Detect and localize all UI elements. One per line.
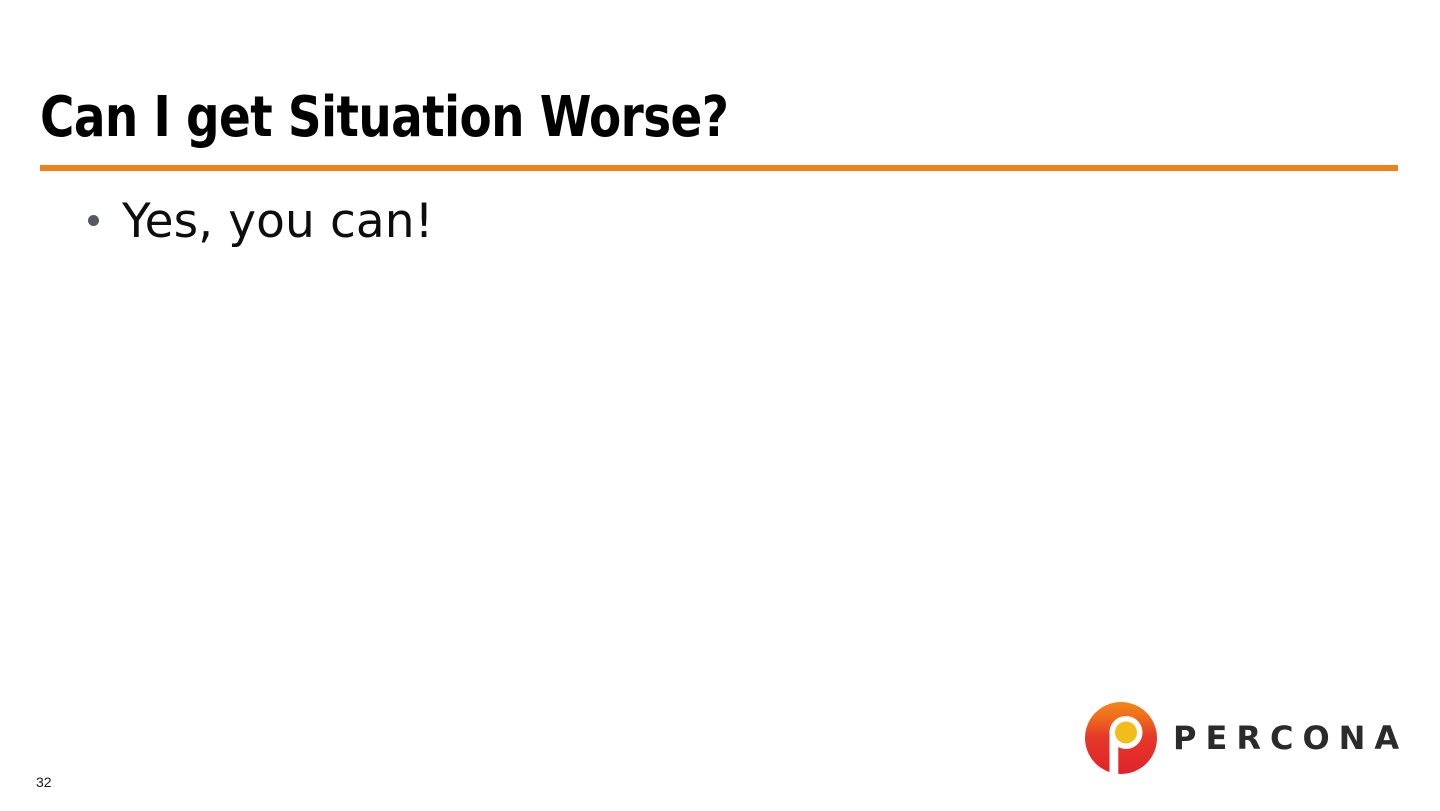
page-number: 32 xyxy=(36,774,52,790)
percona-p-circle-icon xyxy=(1085,702,1157,774)
percona-wordmark: PERCONA xyxy=(1173,721,1408,755)
page-title: Can I get Situation Worse? xyxy=(40,86,1277,150)
list-item: Yes, you can! xyxy=(88,192,1338,252)
bullet-text: Yes, you can! xyxy=(122,192,1338,252)
percona-logo: PERCONA xyxy=(1085,702,1397,774)
bullet-dot-icon xyxy=(88,215,99,226)
title-divider-rule xyxy=(40,165,1398,171)
slide-canvas: Can I get Situation Worse? Yes, you can!… xyxy=(0,0,1440,811)
body-bullet-list: Yes, you can! xyxy=(88,192,1338,266)
